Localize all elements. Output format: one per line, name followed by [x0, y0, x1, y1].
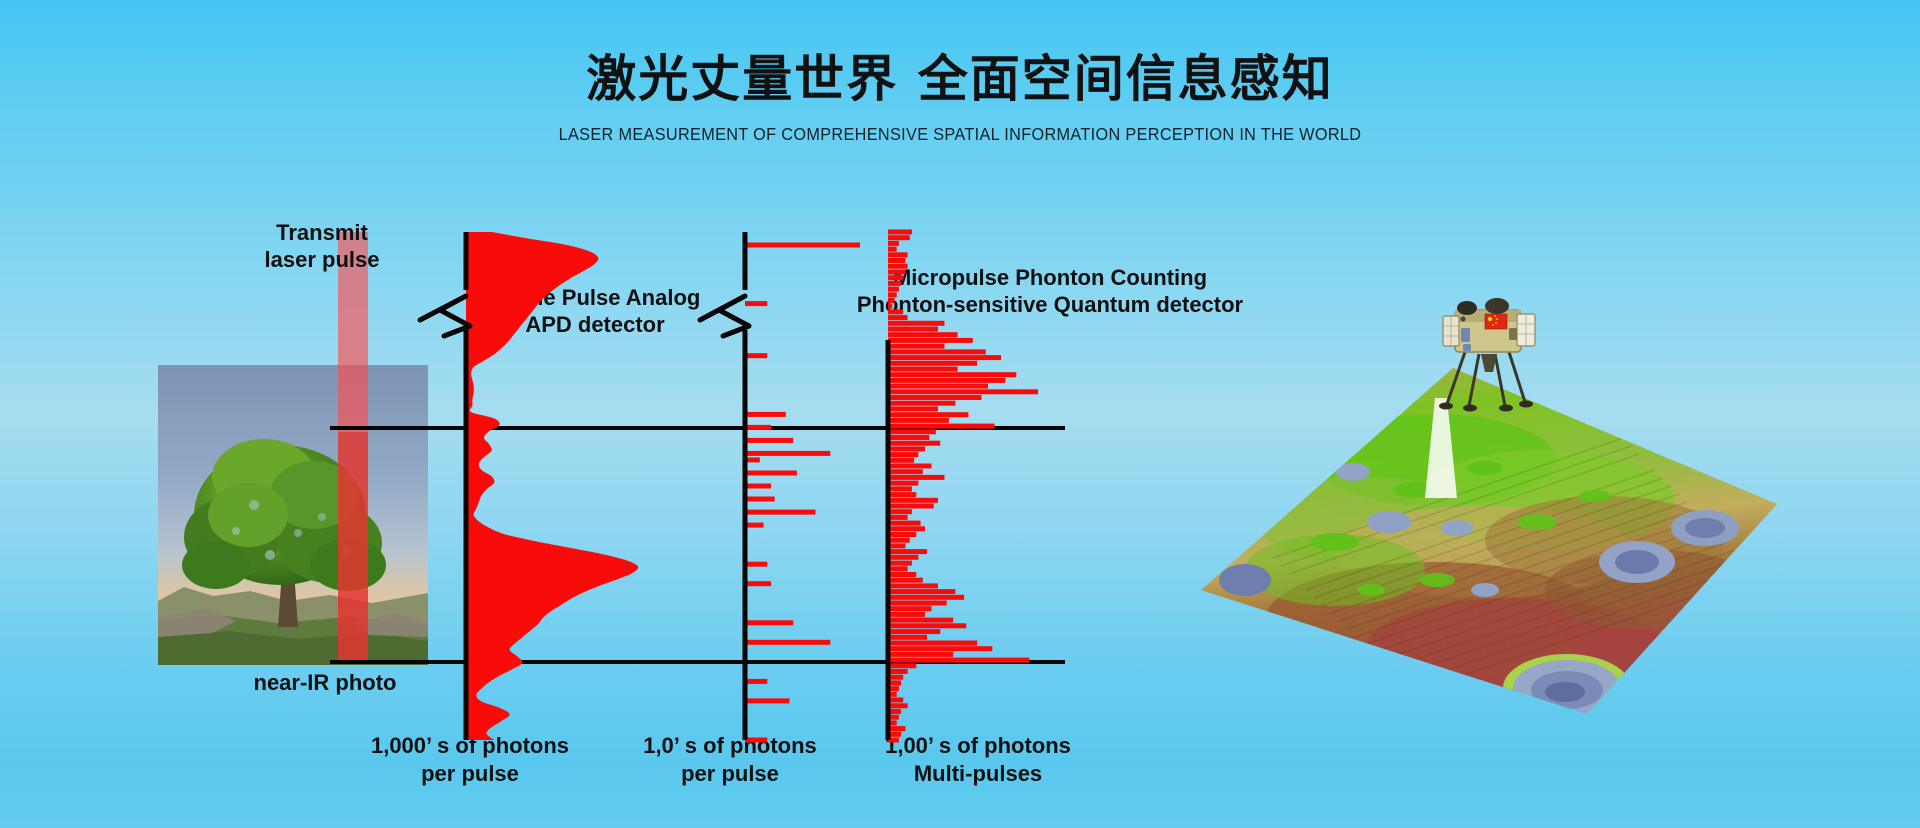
photon-bar: [888, 235, 910, 240]
photon-bar: [888, 543, 905, 548]
single-pulse-analog-line1: Single Pulse Analog: [430, 285, 760, 312]
photon-bar: [888, 344, 945, 349]
transmit-laser-pulse-line1: Transmit: [232, 220, 412, 247]
photon-bar: [888, 618, 953, 623]
photon-bar: [888, 464, 932, 469]
photon-bar: [888, 692, 897, 697]
photon-bar: [745, 581, 771, 586]
photon-bar: [888, 549, 927, 554]
photon-bar: [888, 230, 912, 235]
photon-bar: [888, 698, 903, 703]
photon-bar: [888, 521, 921, 526]
photon-bar: [888, 429, 936, 434]
near-ir-photo-text: near-IR photo: [200, 670, 450, 697]
photon-bar: [745, 562, 767, 567]
transmit-laser-pulse-label: Transmit laser pulse: [232, 220, 412, 274]
photon-bar: [745, 510, 816, 515]
plot3-caption: 1,00’ s of photons Multi-pulses: [818, 732, 1138, 787]
photon-bar: [888, 469, 923, 474]
photon-bar: [888, 641, 977, 646]
photon-bar: [888, 646, 992, 651]
photon-bar: [888, 355, 1001, 360]
photon-bar: [888, 252, 908, 257]
photon-bar: [888, 452, 918, 457]
tree-photo-icon: [158, 365, 428, 665]
photon-bar: [745, 243, 860, 248]
photon-bar: [888, 709, 901, 714]
photon-bar: [745, 523, 764, 528]
photon-bar: [888, 526, 925, 531]
photon-bar: [888, 241, 899, 246]
photon-bar: [888, 601, 947, 606]
photon-bar: [888, 446, 925, 451]
photon-bar: [888, 384, 988, 389]
photon-bar: [745, 620, 793, 625]
photon-bar: [888, 675, 903, 680]
photon-bar: [888, 418, 949, 423]
photon-bar: [745, 698, 790, 703]
photon-bar: [888, 321, 945, 326]
photon-bar: [888, 372, 1016, 377]
near-ir-photo-label: near-IR photo: [200, 670, 450, 697]
photon-bar: [888, 327, 938, 332]
photon-bar: [888, 538, 910, 543]
photon-bar: [745, 484, 771, 489]
photon-bar: [888, 566, 908, 571]
canopy-top-reference-line: [330, 426, 1065, 430]
photon-bar: [888, 492, 916, 497]
lunar-lander-icon: [1425, 288, 1555, 418]
photon-bar: [888, 572, 916, 577]
photon-bar: [888, 458, 914, 463]
photon-bar: [888, 441, 940, 446]
photon-bar: [745, 451, 830, 456]
photon-bar: [888, 412, 968, 417]
photon-bar: [888, 532, 916, 537]
photon-bar: [888, 583, 938, 588]
photon-bar: [888, 509, 912, 514]
laser-beam-lower-icon: [338, 432, 368, 662]
photon-bar: [888, 395, 982, 400]
photon-bar: [888, 555, 918, 560]
plot3-caption-line2: Multi-pulses: [818, 760, 1138, 788]
photon-bar: [888, 486, 912, 491]
photon-bar: [888, 378, 1005, 383]
photon-bar: [888, 561, 912, 566]
photon-bar: [888, 406, 938, 411]
photon-bar: [888, 435, 929, 440]
photon-bar: [888, 686, 899, 691]
photon-bar: [888, 401, 955, 406]
photon-bar: [888, 595, 964, 600]
photon-bar: [745, 471, 797, 476]
photon-bar: [745, 438, 793, 443]
photon-bar: [888, 720, 897, 725]
photon-bar: [888, 349, 986, 354]
photon-bar: [745, 457, 760, 462]
diagram-stage: Transmit laser pulse near-IR photo Singl…: [0, 0, 1920, 828]
photon-bar: [888, 612, 925, 617]
photon-bar: [888, 361, 977, 366]
photon-bar: [888, 498, 938, 503]
photon-bar: [888, 247, 897, 252]
photon-bar: [888, 680, 901, 685]
photon-bar: [888, 367, 958, 372]
photon-bar: [888, 606, 932, 611]
photon-bar: [745, 353, 767, 358]
photon-bar: [888, 338, 973, 343]
transmit-laser-pulse-line2: laser pulse: [232, 247, 412, 274]
photon-bar: [745, 679, 767, 684]
photon-bar: [888, 652, 953, 657]
single-pulse-analog-line2: APD detector: [430, 312, 760, 339]
photon-bar: [888, 715, 899, 720]
photon-bar: [888, 504, 934, 509]
photon-bar: [888, 669, 908, 674]
photon-bar: [888, 629, 940, 634]
photon-bar: [745, 497, 775, 502]
photon-bar: [888, 635, 927, 640]
china-flag-icon: [1485, 314, 1507, 329]
plot3-caption-line1: 1,00’ s of photons: [818, 732, 1138, 760]
photon-bar: [888, 589, 955, 594]
photon-bar: [888, 475, 945, 480]
photon-bar: [888, 623, 966, 628]
photon-bar: [888, 332, 958, 337]
photon-bar: [888, 258, 905, 263]
photon-bar: [745, 640, 830, 645]
ground-reference-line: [330, 660, 1065, 664]
single-pulse-analog-label: Single Pulse Analog APD detector: [430, 285, 760, 339]
photon-bar: [888, 703, 908, 708]
photon-bar: [745, 412, 786, 417]
photon-bar: [888, 726, 905, 731]
photon-bar: [888, 663, 916, 668]
photon-bar: [888, 389, 1038, 394]
photon-bar: [888, 578, 923, 583]
photon-bar: [888, 515, 908, 520]
photon-bar: [888, 481, 918, 486]
micropulse-line1: Micropulse Phonton Counting: [770, 265, 1330, 292]
